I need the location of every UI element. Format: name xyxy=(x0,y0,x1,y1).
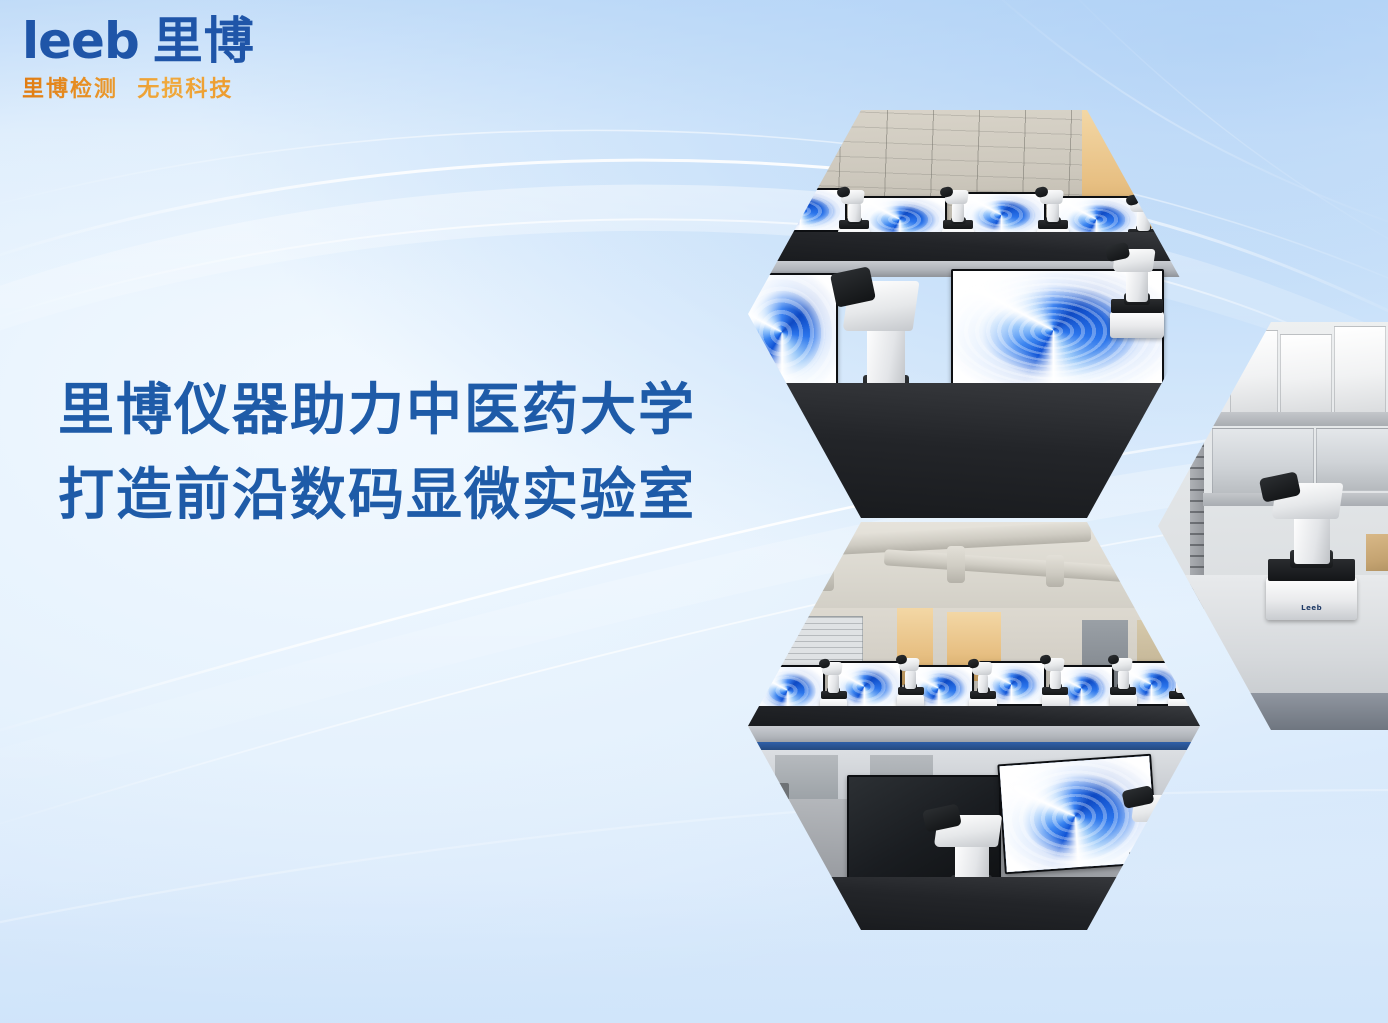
microscope-right-edge xyxy=(1110,232,1164,338)
duct-drop-2 xyxy=(947,546,965,583)
duct-drop-3 xyxy=(1046,555,1064,588)
headline-line-1: 里博仪器助力中医药大学 xyxy=(58,368,778,453)
brand-logo[interactable]: leeb 里博 里博检测 无损科技 xyxy=(22,16,322,103)
bench-blue-rail xyxy=(748,742,1200,750)
marketing-banner: leeb 里博 里博检测 无损科技 里博仪器助力中医药大学 打造前沿数码显微实验… xyxy=(0,0,1388,1023)
microscope-brand-label: Leeb xyxy=(1301,604,1322,612)
logo-wordmark-row: leeb 里博 xyxy=(22,16,322,66)
microscope-row-5 xyxy=(1110,648,1137,709)
headline-line-2: 打造前沿数码显微实验室 xyxy=(58,453,778,538)
shelf-box-2 xyxy=(1280,334,1332,414)
microscope-row-2 xyxy=(897,648,924,709)
microscope-row-1 xyxy=(820,653,847,714)
logo-chinese-text: 里博 xyxy=(153,16,255,66)
microscope-row-4 xyxy=(1042,648,1069,709)
microscope-row-3 xyxy=(969,653,996,714)
logo-latin-text: leeb xyxy=(22,16,139,66)
microscope-left: Leeb xyxy=(1266,457,1356,620)
shelf-rail-upper xyxy=(1194,412,1388,426)
logo-tagline: 里博检测 无损科技 xyxy=(22,71,322,103)
headline-block: 里博仪器助力中医药大学 打造前沿数码显微实验室 xyxy=(58,368,778,538)
cardboard-carton xyxy=(1366,534,1388,571)
shelf-box-3 xyxy=(1334,326,1386,414)
